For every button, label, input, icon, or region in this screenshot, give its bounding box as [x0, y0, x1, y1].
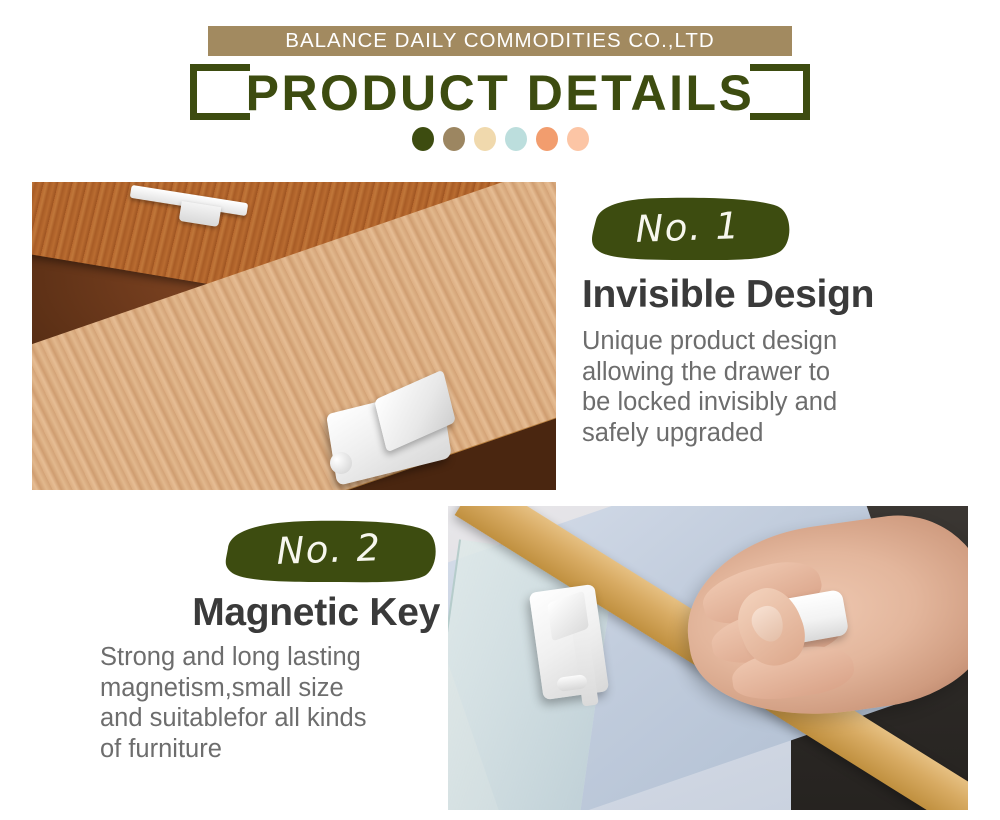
feature-2-body: Strong and long lasting magnetism,small …: [100, 642, 440, 764]
feature-section-2: No. 2 Magnetic Key Strong and long lasti…: [0, 506, 1000, 812]
page-header: BALANCE DAILY COMMODITIES CO.,LTD PRODUC…: [0, 0, 1000, 160]
color-swatch-row: [0, 127, 1000, 151]
feature-1-body-line-3: be locked invisibly and: [582, 387, 982, 418]
color-dot-olive: [412, 127, 434, 151]
feature-1-body-line-1: Unique product design: [582, 326, 982, 357]
feature-1-heading: Invisible Design: [582, 272, 982, 318]
color-dot-cream: [474, 127, 496, 151]
feature-2-body-line-3: and suitablefor all kinds: [100, 703, 440, 734]
feature-2-badge-label: No. 2: [217, 514, 441, 588]
feature-2-heading: Magnetic Key: [100, 590, 440, 636]
feature-1-badge-wrap: No. 1: [582, 196, 982, 262]
feature-2-body-line-4: of furniture: [100, 734, 440, 765]
feature-2-body-line-1: Strong and long lasting: [100, 642, 440, 673]
feature-1-text-block: No. 1 Invisible Design Unique product de…: [582, 196, 982, 448]
company-name-text: BALANCE DAILY COMMODITIES CO.,LTD: [285, 29, 714, 53]
color-dot-khaki: [443, 127, 465, 151]
feature-2-photo: [448, 506, 968, 810]
feature-1-photo: [32, 182, 556, 490]
feature-2-body-line-2: magnetism,small size: [100, 673, 440, 704]
company-name-banner: BALANCE DAILY COMMODITIES CO.,LTD: [208, 26, 792, 56]
page-title: PRODUCT DETAILS: [0, 64, 1000, 122]
feature-1-body-line-2: allowing the drawer to: [582, 357, 982, 388]
color-dot-pale-cyan: [505, 127, 527, 151]
feature-section-1: No. 1 Invisible Design Unique product de…: [0, 182, 1000, 492]
feature-2-badge-wrap: No. 2: [100, 518, 440, 584]
feature-1-body-line-4: safely upgraded: [582, 418, 982, 449]
color-dot-peach: [567, 127, 589, 151]
feature-1-badge-label: No. 1: [581, 192, 795, 265]
color-dot-salmon: [536, 127, 558, 151]
feature-1-body: Unique product design allowing the drawe…: [582, 326, 982, 448]
feature-2-badge: No. 2: [218, 518, 440, 584]
feature-1-badge: No. 1: [582, 196, 794, 262]
feature-2-text-block: No. 2 Magnetic Key Strong and long lasti…: [100, 518, 440, 764]
